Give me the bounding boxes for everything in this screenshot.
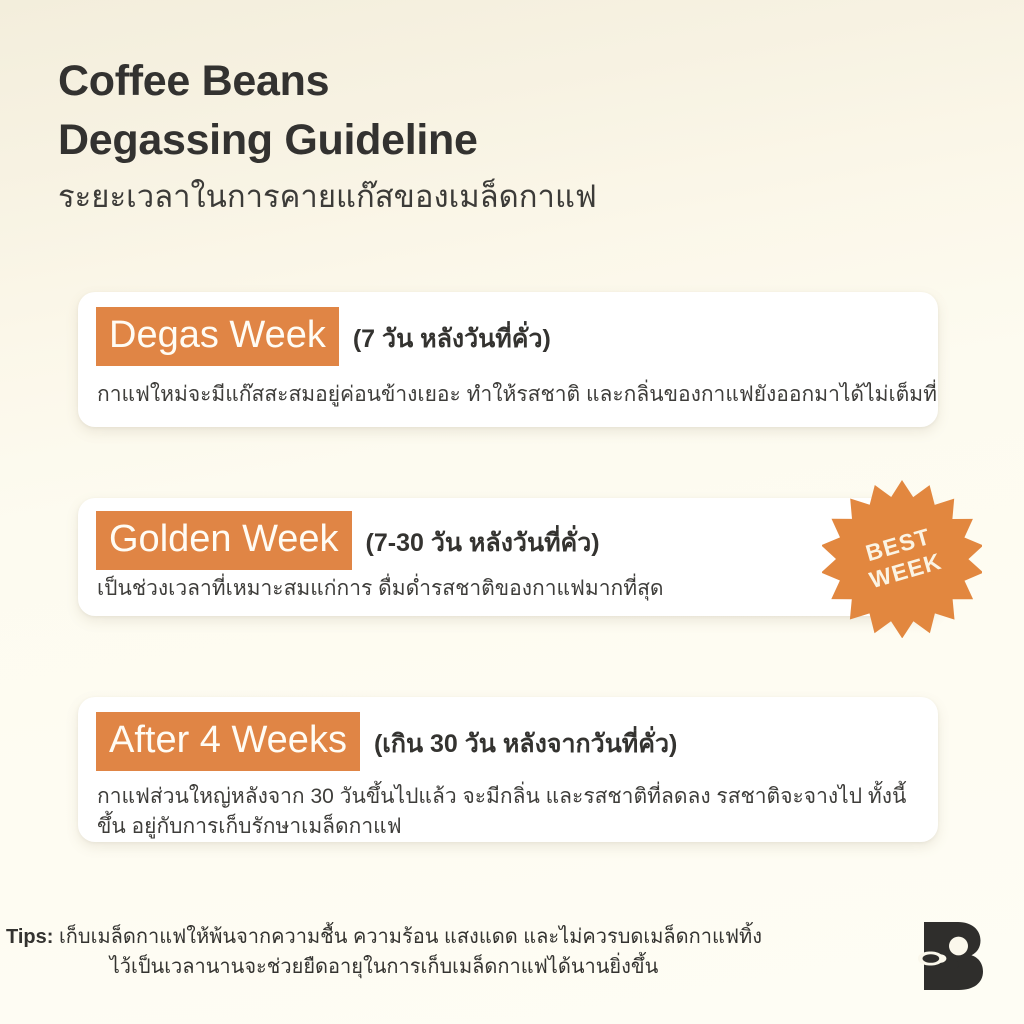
brand-logo <box>916 918 990 994</box>
card-header: Degas Week (7 วัน หลังวันที่คั่ว) <box>96 307 551 366</box>
card-header: Golden Week (7-30 วัน หลังวันที่คั่ว) <box>96 511 600 570</box>
best-week-badge: BEST WEEK <box>822 478 982 638</box>
card-timeframe-note: (เกิน 30 วัน หลังจากวันที่คั่ว) <box>374 724 677 764</box>
card-body-text: เป็นช่วงเวลาที่เหมาะสมแก่การ ดื่มด่ำรสชา… <box>97 574 664 604</box>
card-timeframe-note: (7-30 วัน หลังวันที่คั่ว) <box>366 523 600 563</box>
page-title-line-2: Degassing Guideline <box>58 111 938 170</box>
card-body-text: กาแฟใหม่จะมีแก๊สสะสมอยู่ค่อนข้างเยอะ ทำใ… <box>97 380 937 410</box>
card-label-chip: Degas Week <box>96 307 339 366</box>
card-after-4-weeks: After 4 Weeks (เกิน 30 วัน หลังจากวันที่… <box>78 697 938 842</box>
card-degas-week: Degas Week (7 วัน หลังวันที่คั่ว) กาแฟให… <box>78 292 938 427</box>
card-body-text: กาแฟส่วนใหญ่หลังจาก 30 วันขึ้นไปแล้ว จะม… <box>97 782 907 842</box>
card-label-chip: After 4 Weeks <box>96 712 360 771</box>
tips-text: เก็บเมล็ดกาแฟให้พ้นจากความชื้น ความร้อน … <box>53 926 762 978</box>
tips-label: Tips: <box>6 926 53 948</box>
infographic-poster: Coffee Beans Degassing Guideline ระยะเวล… <box>0 0 1024 1024</box>
logo-b-coffee-cup-icon <box>916 918 990 994</box>
footer-tips: Tips: เก็บเมล็ดกาแฟให้พ้นจากความชื้น ควา… <box>0 922 768 982</box>
page-title-line-1: Coffee Beans <box>58 52 938 111</box>
card-label-chip: Golden Week <box>96 511 352 570</box>
page-header: Coffee Beans Degassing Guideline ระยะเวล… <box>58 52 938 217</box>
starburst-icon <box>822 478 982 638</box>
card-header: After 4 Weeks (เกิน 30 วัน หลังจากวันที่… <box>96 712 677 771</box>
page-subtitle-thai: ระยะเวลาในการคายแก๊สของเมล็ดกาแฟ <box>58 177 938 217</box>
card-golden-week: Golden Week (7-30 วัน หลังวันที่คั่ว) เป… <box>78 498 938 616</box>
card-timeframe-note: (7 วัน หลังวันที่คั่ว) <box>353 319 551 359</box>
